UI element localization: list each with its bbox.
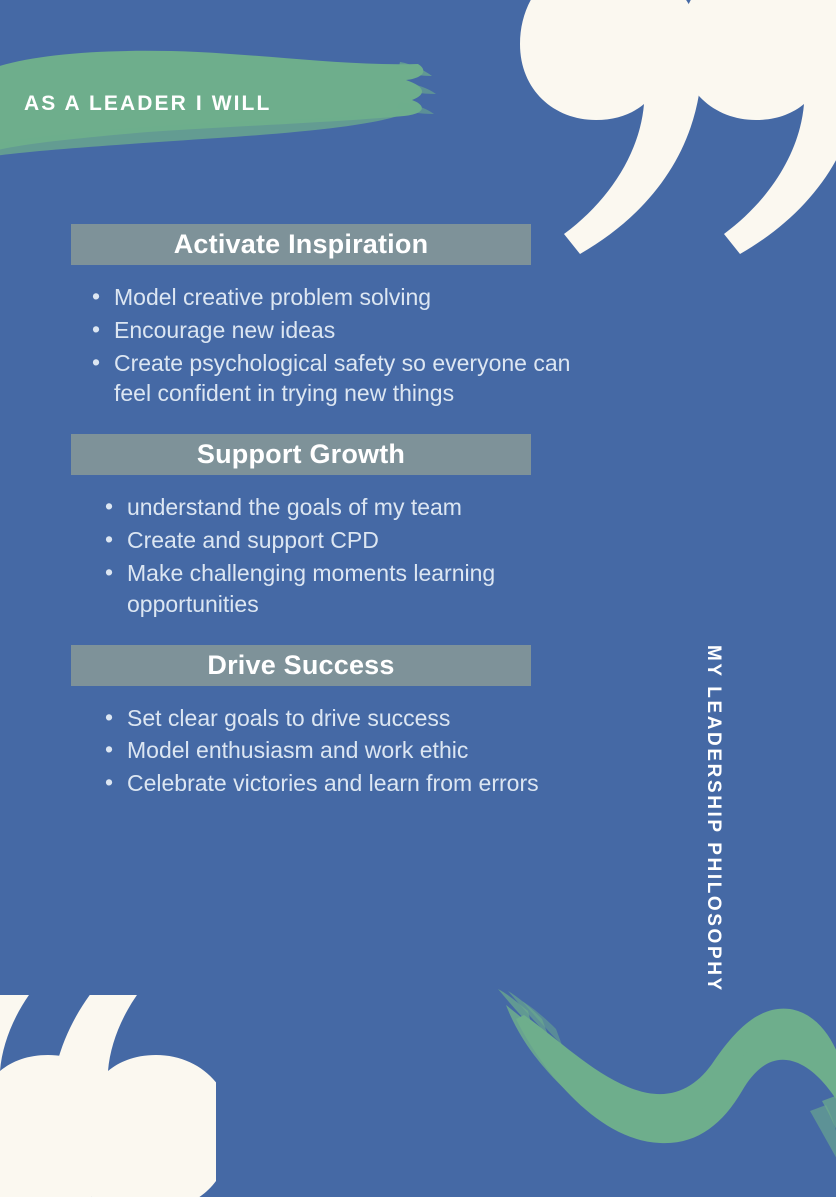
section-title: Activate Inspiration [174, 231, 429, 258]
sections-container: Activate Inspiration Model creative prob… [0, 224, 600, 801]
poster-canvas: AS A LEADER I WILL MY LEADERSHIP PHILOSO… [0, 0, 836, 1197]
section-drive-success: Drive Success Set clear goals to drive s… [0, 645, 600, 799]
eyebrow-heading: AS A LEADER I WILL [24, 93, 271, 114]
section-header-bar: Support Growth [71, 434, 531, 475]
list-item: Set clear goals to drive success [101, 703, 600, 734]
list-item: Make challenging moments learning opport… [101, 558, 600, 620]
section-bullet-list: Model creative problem solving Encourage… [88, 282, 600, 409]
closing-quote-marks-icon [520, 0, 836, 262]
list-item: Celebrate victories and learn from error… [101, 768, 600, 799]
list-item: Encourage new ideas [88, 315, 600, 346]
list-item: understand the goals of my team [101, 492, 600, 523]
section-header-bar: Drive Success [71, 645, 531, 686]
section-bullet-list: Set clear goals to drive success Model e… [101, 703, 600, 799]
section-activate-inspiration: Activate Inspiration Model creative prob… [0, 224, 600, 409]
opening-quote-marks-icon [0, 995, 216, 1197]
section-header-bar: Activate Inspiration [71, 224, 531, 265]
section-title: Support Growth [197, 441, 405, 468]
list-item: Create psychological safety so everyone … [88, 348, 600, 410]
section-bullet-list: understand the goals of my team Create a… [101, 492, 600, 619]
green-brush-stroke-bottom-icon [498, 975, 836, 1165]
list-item: Create and support CPD [101, 525, 600, 556]
section-support-growth: Support Growth understand the goals of m… [0, 434, 600, 619]
list-item: Model enthusiasm and work ethic [101, 735, 600, 766]
list-item: Model creative problem solving [88, 282, 600, 313]
vertical-title-label: MY LEADERSHIP PHILOSOPHY [694, 645, 724, 993]
section-title: Drive Success [207, 652, 394, 679]
